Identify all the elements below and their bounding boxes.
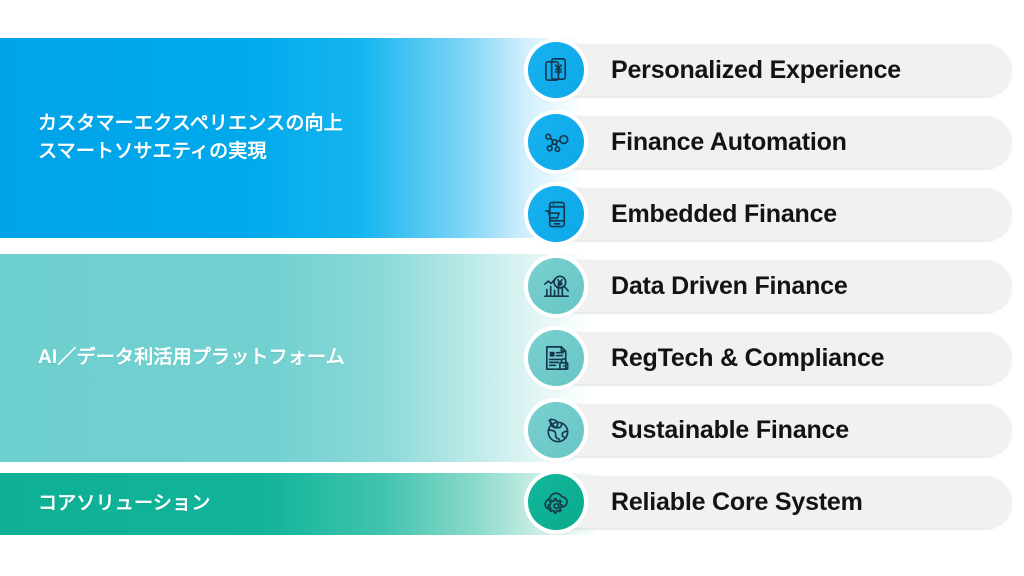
- solution-label-regtech-compliance: RegTech & Compliance: [611, 344, 884, 373]
- solution-pill-data-driven-finance[interactable]: Data Driven Finance: [531, 260, 1011, 312]
- solution-label-data-driven-finance: Data Driven Finance: [611, 272, 848, 301]
- solution-label-embedded-finance: Embedded Finance: [611, 200, 837, 229]
- solution-pill-regtech-compliance[interactable]: RegTech & Compliance: [531, 332, 1011, 384]
- solution-architecture-diagram: カスタマーエクスペリエンスの向上 スマートソサエティの実現 AI／データ利活用プ…: [0, 0, 1024, 576]
- band-ai-data-platform: AI／データ利活用プラットフォーム: [0, 254, 590, 462]
- network-nodes-icon: [528, 114, 584, 170]
- solution-label-sustainable-finance: Sustainable Finance: [611, 416, 849, 445]
- solution-pill-reliable-core-system[interactable]: Reliable Core System: [531, 476, 1011, 528]
- solution-label-finance-automation: Finance Automation: [611, 128, 847, 157]
- solution-pill-personalized-experience[interactable]: Personalized Experience: [531, 44, 1011, 96]
- solution-pill-finance-automation[interactable]: Finance Automation: [531, 116, 1011, 168]
- solution-pill-sustainable-finance[interactable]: Sustainable Finance: [531, 404, 1011, 456]
- solution-label-reliable-core-system: Reliable Core System: [611, 488, 863, 517]
- band-customer-experience-label: カスタマーエクスペリエンスの向上 スマートソサエティの実現: [0, 110, 343, 165]
- mobile-shopping-cart-icon: [528, 186, 584, 242]
- bar-chart-magnifier-yen-icon: [528, 258, 584, 314]
- band-ai-data-platform-label: AI／データ利活用プラットフォーム: [0, 344, 345, 372]
- solution-label-personalized-experience: Personalized Experience: [611, 56, 901, 85]
- cloud-gear-icon: [528, 474, 584, 530]
- band-customer-experience: カスタマーエクスペリエンスの向上 スマートソサエティの実現: [0, 38, 582, 238]
- band-core-solution-label: コアソリューション: [0, 490, 210, 518]
- mobile-yen-card-icon: [528, 42, 584, 98]
- band-core-solution: コアソリューション: [0, 473, 600, 535]
- solution-pill-embedded-finance[interactable]: Embedded Finance: [531, 188, 1011, 240]
- globe-leaf-icon: [528, 402, 584, 458]
- document-lock-icon: [528, 330, 584, 386]
